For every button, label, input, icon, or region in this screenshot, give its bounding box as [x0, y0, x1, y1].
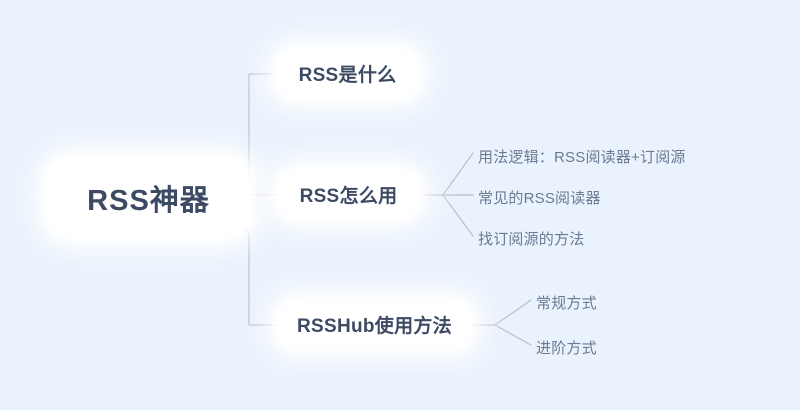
- mindmap-root-node[interactable]: RSS神器: [52, 163, 245, 232]
- mindmap-leaf-advanced-method[interactable]: 进阶方式: [536, 337, 597, 358]
- connector-how-to-logic: [443, 153, 473, 195]
- mindmap-branch-node-how[interactable]: RSS怎么用: [283, 176, 414, 213]
- connector-how-to-find: [443, 195, 473, 236]
- connector-root-to-rsshub: [224, 216, 283, 325]
- mindmap-branch-label-what: RSS是什么: [299, 60, 397, 87]
- mindmap-leaf-common-readers[interactable]: 常见的RSS阅读器: [478, 187, 601, 208]
- connector-rsshub-to-normal: [495, 300, 531, 325]
- mindmap-branch-label-rsshub: RSSHub使用方法: [297, 311, 452, 338]
- mindmap-leaf-find-feeds[interactable]: 找订阅源的方法: [478, 228, 584, 249]
- connector-rsshub-to-advanced: [495, 325, 531, 345]
- mindmap-branch-node-what[interactable]: RSS是什么: [282, 55, 413, 92]
- mindmap-branch-node-rsshub[interactable]: RSSHub使用方法: [283, 306, 466, 343]
- mindmap-root-label: RSS神器: [87, 177, 210, 219]
- mindmap-leaf-normal-method[interactable]: 常规方式: [536, 292, 597, 313]
- mindmap-leaf-usage-logic[interactable]: 用法逻辑：RSS阅读器+订阅源: [478, 146, 686, 167]
- mindmap-canvas: RSS神器 RSS是什么 RSS怎么用 RSSHub使用方法 用法逻辑：RSS阅…: [0, 0, 800, 410]
- mindmap-branch-label-how: RSS怎么用: [300, 181, 398, 208]
